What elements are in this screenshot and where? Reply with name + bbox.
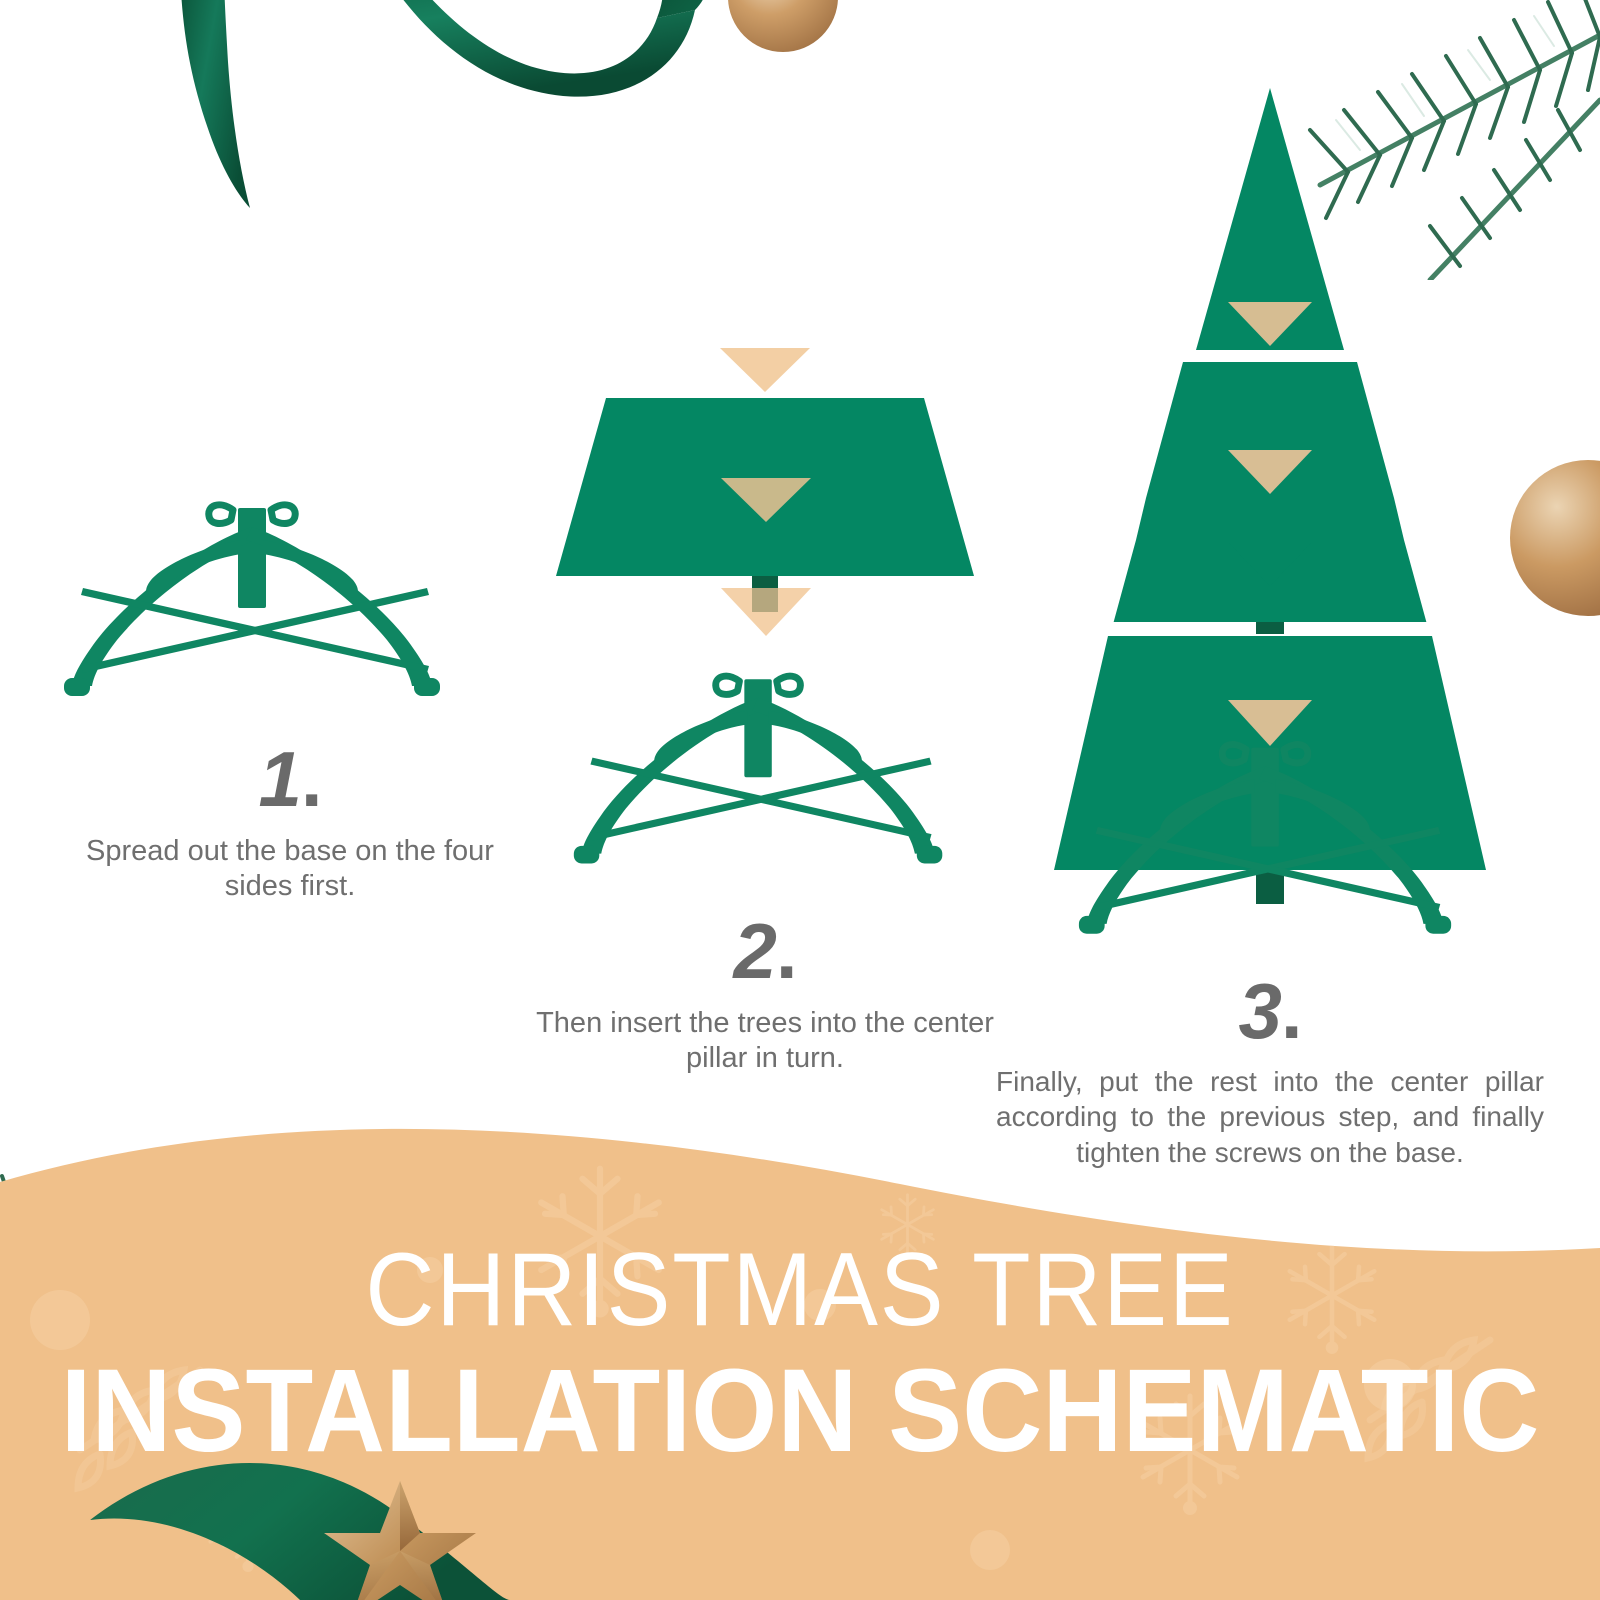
step-3: 3. Finally, put the rest into the center…: [980, 70, 1560, 1170]
step-3-number: 3.: [980, 972, 1560, 1050]
poster-root: 1. Spread out the base on the four sides…: [0, 0, 1600, 1600]
title-band: CHRISTMAS TREE INSTALLATION SCHEMATIC: [0, 1120, 1600, 1600]
full-tree-on-stand-icon: [980, 70, 1560, 960]
step-2: 2. Then insert the trees into the center…: [505, 330, 1025, 1077]
steps-container: 1. Spread out the base on the four sides…: [0, 0, 1600, 1160]
step-1-number: 1.: [55, 740, 525, 818]
title-block: CHRISTMAS TREE INSTALLATION SCHEMATIC: [0, 1238, 1600, 1474]
arrow-down-icon: [720, 348, 810, 392]
title-line-1: CHRISTMAS TREE: [64, 1238, 1536, 1342]
step-1-illustration: [55, 470, 525, 700]
step-2-caption: Then insert the trees into the center pi…: [505, 1006, 1025, 1077]
center-pole: [1256, 622, 1284, 634]
step-1-caption: Spread out the base on the four sides fi…: [55, 834, 525, 905]
tree-stand-icon: [55, 470, 455, 700]
tree-section-and-stand-icon: [505, 330, 1025, 870]
step-2-number: 2.: [505, 912, 1025, 990]
step-3-illustration: [980, 70, 1560, 960]
step-1: 1. Spread out the base on the four sides…: [55, 470, 525, 905]
step-2-illustration: [505, 330, 1025, 870]
title-line-2: INSTALLATION SCHEMATIC: [48, 1350, 1552, 1474]
